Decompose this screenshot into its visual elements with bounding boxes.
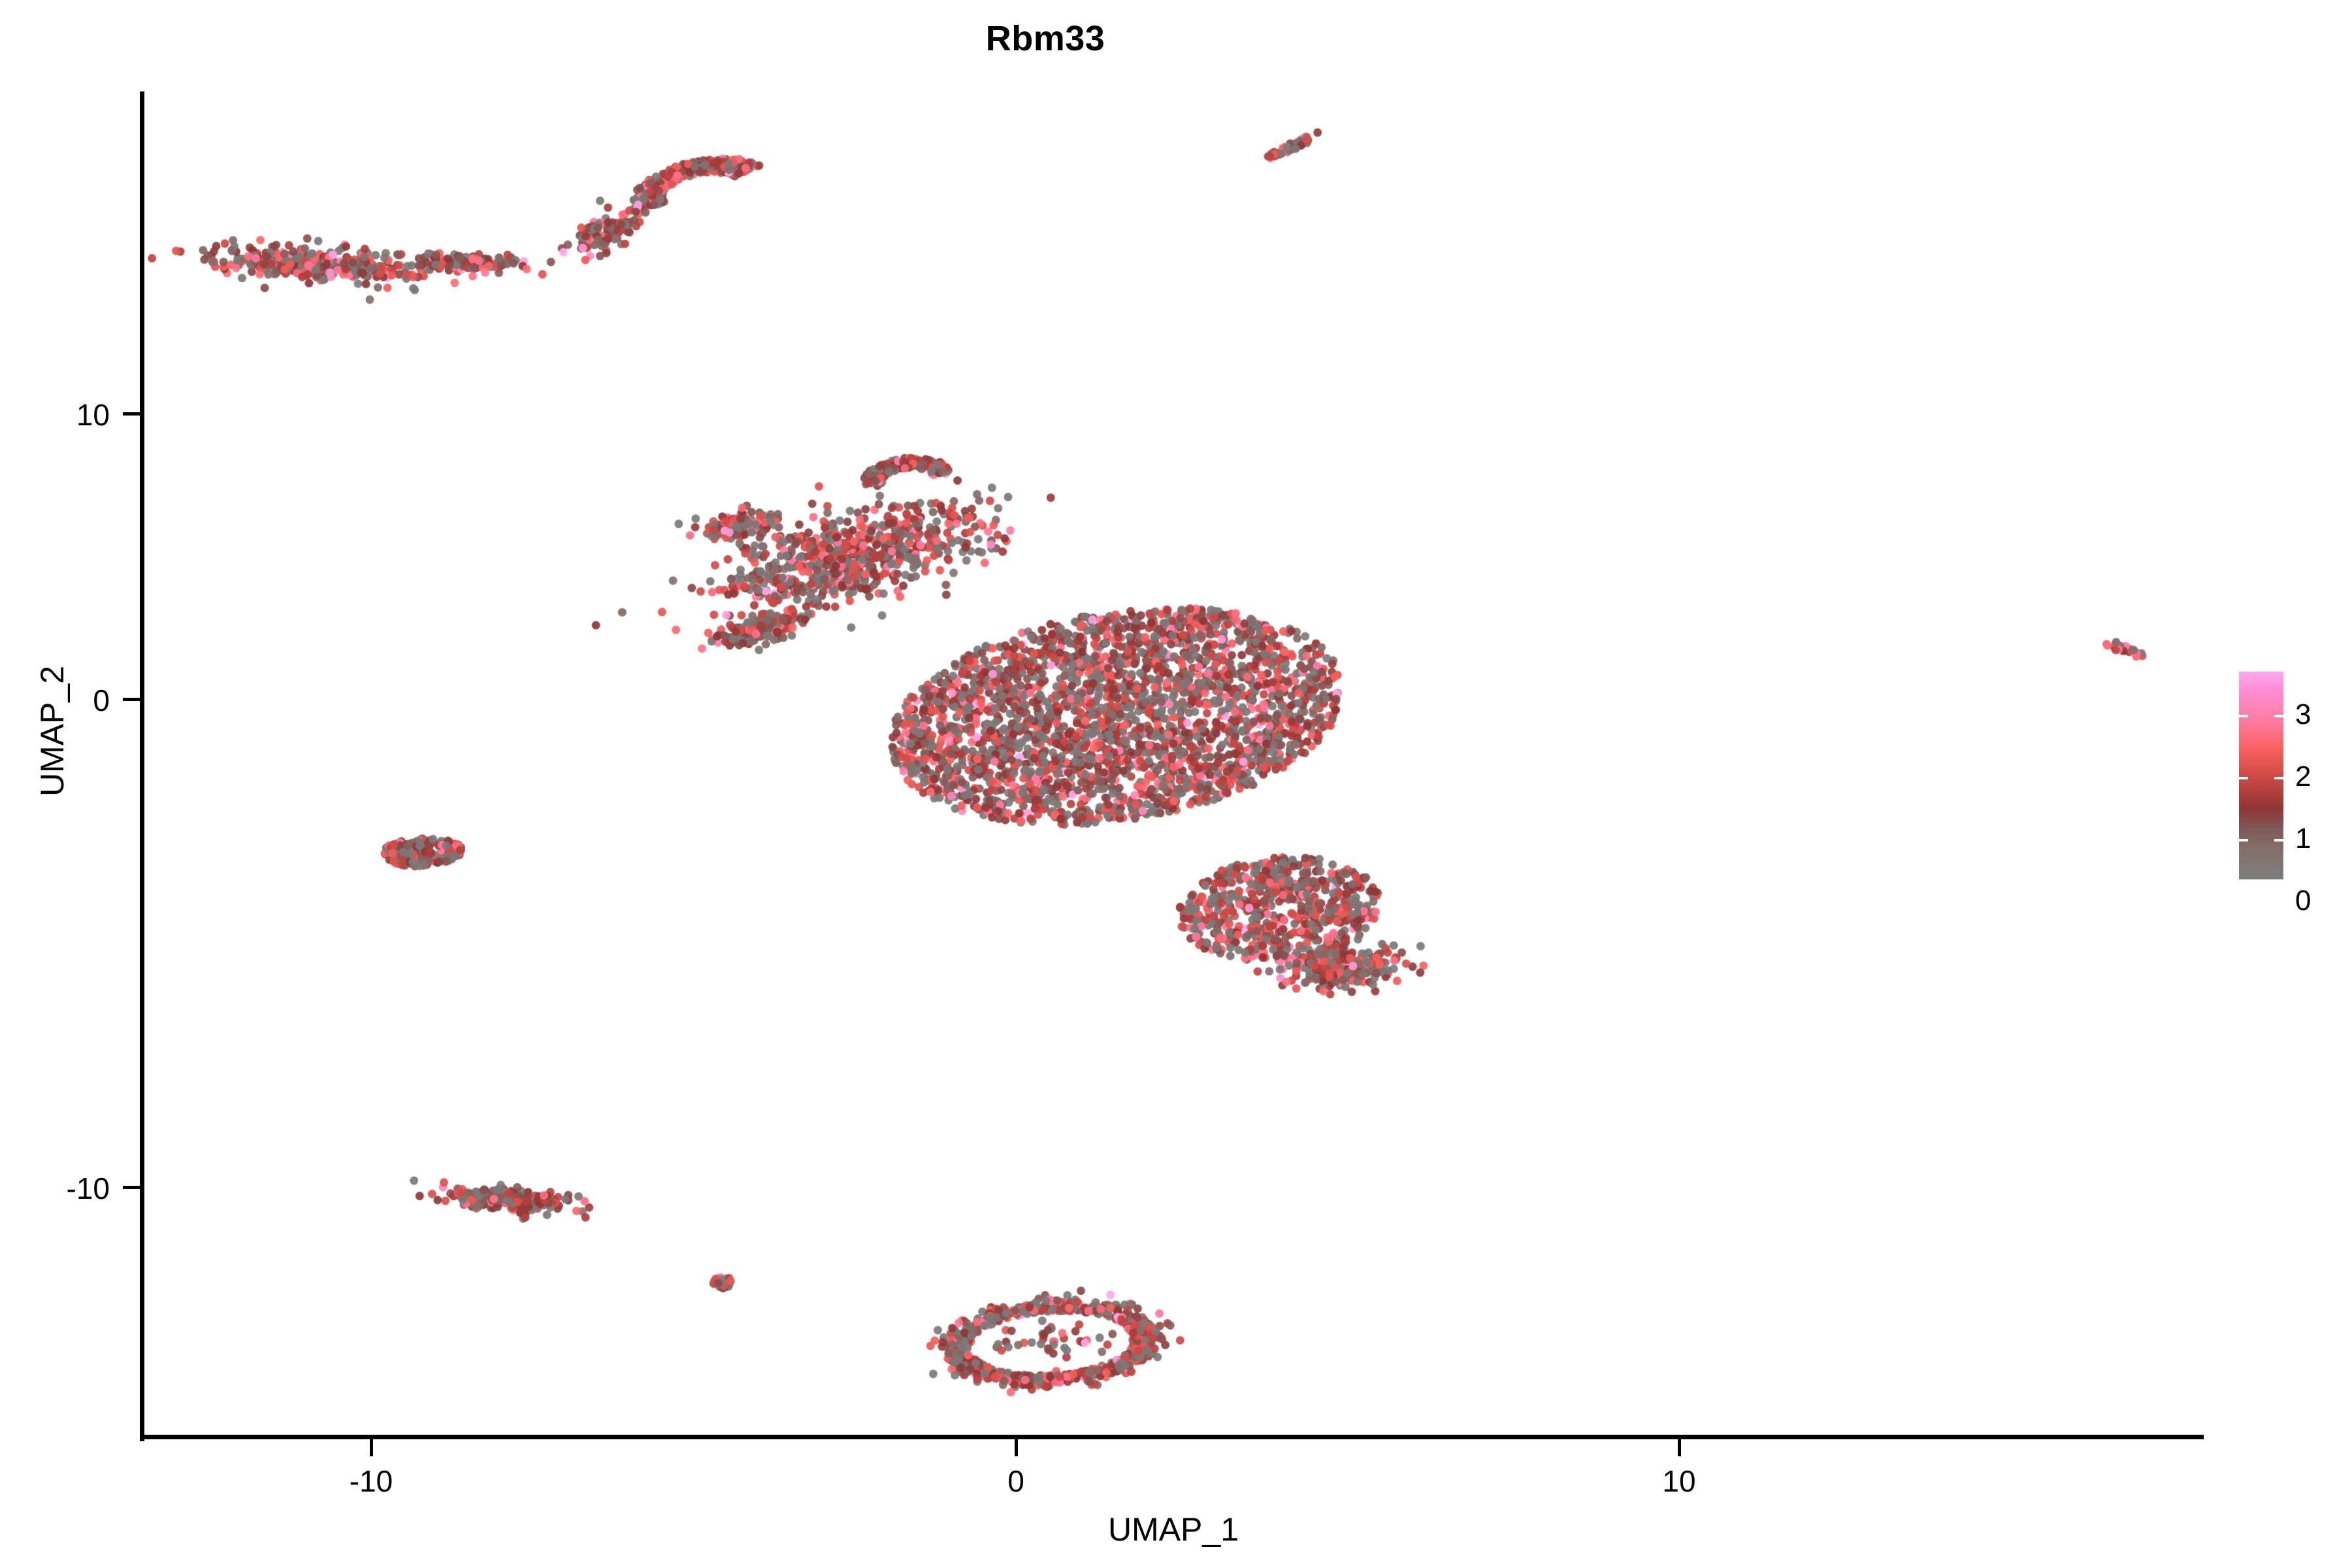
colorbar-gradient (2239, 672, 2283, 879)
y-axis-line (140, 91, 144, 1441)
y-tick-mark (123, 412, 140, 416)
x-tick-label: -10 (286, 1463, 456, 1499)
colorbar-legend: 3 2 1 0 (2239, 672, 2352, 887)
plot-panel (144, 91, 2203, 1439)
colorbar-tick (2239, 839, 2248, 841)
y-tick-label: -10 (0, 1171, 110, 1206)
colorbar-tick (2274, 777, 2283, 779)
colorbar-tick (2274, 839, 2283, 841)
x-tick-mark (1015, 1439, 1018, 1456)
colorbar-tick (2239, 715, 2248, 717)
colorbar-tick (2239, 777, 2248, 779)
colorbar-label: 0 (2295, 887, 2311, 915)
umap-feature-plot: Rbm33 -10 0 10 10 0 -10 UMAP_1 UMAP_2 3 … (0, 0, 2352, 1568)
x-tick-mark (1678, 1439, 1681, 1456)
y-axis-title: UMAP_2 (33, 339, 71, 1123)
x-tick-label: 0 (931, 1463, 1101, 1499)
x-tick-mark (370, 1439, 373, 1456)
colorbar-label: 2 (2295, 762, 2311, 791)
x-tick-label: 10 (1594, 1463, 1764, 1499)
y-tick-mark (123, 1186, 140, 1189)
colorbar-label: 1 (2295, 825, 2311, 853)
x-axis-title: UMAP_1 (144, 1511, 2203, 1548)
scatter-canvas (144, 91, 2203, 1439)
page-title: Rbm33 (0, 18, 2221, 59)
colorbar-tick (2274, 715, 2283, 717)
colorbar-label: 3 (2295, 700, 2311, 729)
x-axis-line (140, 1435, 2204, 1439)
y-tick-mark (123, 698, 140, 701)
